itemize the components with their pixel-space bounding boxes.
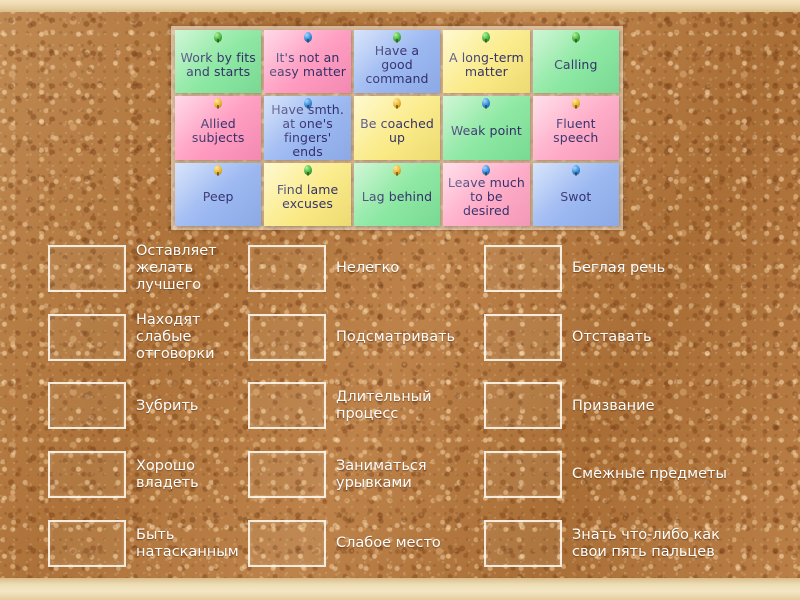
- sticky-note-label: Allied subjects: [179, 117, 257, 145]
- answers-area: Оставляет желать лучшегоНаходят слабые о…: [0, 234, 800, 578]
- answer-row: Оставляет желать лучшего: [0, 234, 240, 303]
- answer-column: Беглая речьОтставатьПризваниеСмежные пре…: [480, 234, 760, 578]
- sticky-note-card[interactable]: Swot: [533, 163, 619, 226]
- answer-label: Слабое место: [336, 535, 441, 552]
- push-pin-icon: [304, 98, 312, 108]
- drop-target-box[interactable]: [48, 314, 126, 361]
- answer-row: Нелегко: [240, 234, 480, 303]
- push-pin-icon: [214, 165, 222, 175]
- board-frame-top: [0, 0, 800, 12]
- answer-label: Смежные предметы: [572, 466, 727, 483]
- push-pin-icon: [482, 32, 490, 42]
- drop-target-box[interactable]: [248, 520, 326, 567]
- sticky-note-card[interactable]: Have a good command: [354, 30, 440, 93]
- sticky-note-label: Have smth. at one's fingers' ends: [268, 103, 346, 159]
- answer-label: Отставать: [572, 329, 652, 346]
- sticky-note-card[interactable]: Fluent speech: [533, 96, 619, 159]
- drop-target-box[interactable]: [484, 520, 562, 567]
- drop-target-box[interactable]: [484, 382, 562, 429]
- push-pin-icon: [572, 165, 580, 175]
- answer-label: Подсматривать: [336, 329, 455, 346]
- sticky-note-label: Work by fits and starts: [179, 51, 257, 79]
- board-frame-bottom: [0, 578, 800, 600]
- drop-target-box[interactable]: [48, 382, 126, 429]
- answer-label: Зубрить: [136, 398, 198, 415]
- sticky-notes-grid: Work by fits and startsIt's not an easy …: [171, 26, 623, 230]
- answer-row: Находят слабые отговорки: [0, 303, 240, 372]
- push-pin-icon: [482, 98, 490, 108]
- answer-row: Знать что-либо как свои пять пальцев: [480, 509, 760, 578]
- answer-label: Хорошо владеть: [136, 458, 240, 492]
- drop-target-box[interactable]: [48, 451, 126, 498]
- answer-row: Смежные предметы: [480, 440, 760, 509]
- drop-target-box[interactable]: [484, 245, 562, 292]
- sticky-note-label: Weak point: [451, 124, 522, 138]
- answer-label: Длительный процесс: [336, 389, 480, 423]
- drop-target-box[interactable]: [484, 451, 562, 498]
- drop-target-box[interactable]: [248, 382, 326, 429]
- sticky-note-card[interactable]: Peep: [175, 163, 261, 226]
- sticky-note-card[interactable]: A long-term matter: [443, 30, 529, 93]
- sticky-note-label: Leave much to be desired: [447, 176, 525, 218]
- sticky-note-card[interactable]: Leave much to be desired: [443, 163, 529, 226]
- answer-row: Слабое место: [240, 509, 480, 578]
- drop-target-box[interactable]: [248, 245, 326, 292]
- sticky-note-label: Have a good command: [358, 44, 436, 86]
- sticky-note-card[interactable]: Find lame excuses: [264, 163, 350, 226]
- push-pin-icon: [214, 32, 222, 42]
- answer-column: НелегкоПодсматриватьДлительный процессЗа…: [240, 234, 480, 578]
- sticky-note-card[interactable]: Calling: [533, 30, 619, 93]
- answer-column: Оставляет желать лучшегоНаходят слабые о…: [0, 234, 240, 578]
- sticky-note-label: Be coached up: [358, 117, 436, 145]
- sticky-note-label: A long-term matter: [447, 51, 525, 79]
- answer-row: Призвание: [480, 372, 760, 441]
- answer-label: Находят слабые отговорки: [136, 312, 240, 362]
- push-pin-icon: [304, 165, 312, 175]
- sticky-note-label: Peep: [203, 190, 234, 204]
- sticky-note-card[interactable]: Work by fits and starts: [175, 30, 261, 93]
- answer-row: Хорошо владеть: [0, 440, 240, 509]
- drop-target-box[interactable]: [248, 314, 326, 361]
- answer-label: Беглая речь: [572, 260, 665, 277]
- answer-label: Быть натасканным: [136, 527, 240, 561]
- sticky-note-label: Swot: [560, 190, 591, 204]
- push-pin-icon: [393, 165, 401, 175]
- drop-target-box[interactable]: [248, 451, 326, 498]
- sticky-note-card[interactable]: Be coached up: [354, 96, 440, 159]
- push-pin-icon: [482, 165, 490, 175]
- answer-label: Призвание: [572, 398, 655, 415]
- sticky-note-label: Find lame excuses: [268, 183, 346, 211]
- drop-target-box[interactable]: [48, 245, 126, 292]
- push-pin-icon: [393, 98, 401, 108]
- sticky-note-label: Calling: [554, 58, 597, 72]
- answer-row: Зубрить: [0, 372, 240, 441]
- push-pin-icon: [572, 98, 580, 108]
- push-pin-icon: [393, 32, 401, 42]
- sticky-note-card[interactable]: It's not an easy matter: [264, 30, 350, 93]
- answer-row: Заниматься урывками: [240, 440, 480, 509]
- sticky-note-card[interactable]: Allied subjects: [175, 96, 261, 159]
- sticky-note-card[interactable]: Lag behind: [354, 163, 440, 226]
- answer-row: Длительный процесс: [240, 372, 480, 441]
- drop-target-box[interactable]: [484, 314, 562, 361]
- answer-row: Быть натасканным: [0, 509, 240, 578]
- push-pin-icon: [304, 32, 312, 42]
- sticky-note-card[interactable]: Have smth. at one's fingers' ends: [264, 96, 350, 159]
- drop-target-box[interactable]: [48, 520, 126, 567]
- sticky-note-label: It's not an easy matter: [268, 51, 346, 79]
- answer-row: Беглая речь: [480, 234, 760, 303]
- push-pin-icon: [214, 98, 222, 108]
- sticky-note-label: Lag behind: [362, 190, 432, 204]
- sticky-note-card[interactable]: Weak point: [443, 96, 529, 159]
- answer-label: Заниматься урывками: [336, 458, 480, 492]
- answer-label: Нелегко: [336, 260, 399, 277]
- sticky-note-label: Fluent speech: [537, 117, 615, 145]
- answer-row: Отставать: [480, 303, 760, 372]
- answer-label: Знать что-либо как свои пять пальцев: [572, 527, 747, 561]
- answer-row: Подсматривать: [240, 303, 480, 372]
- push-pin-icon: [572, 32, 580, 42]
- answer-label: Оставляет желать лучшего: [136, 243, 240, 293]
